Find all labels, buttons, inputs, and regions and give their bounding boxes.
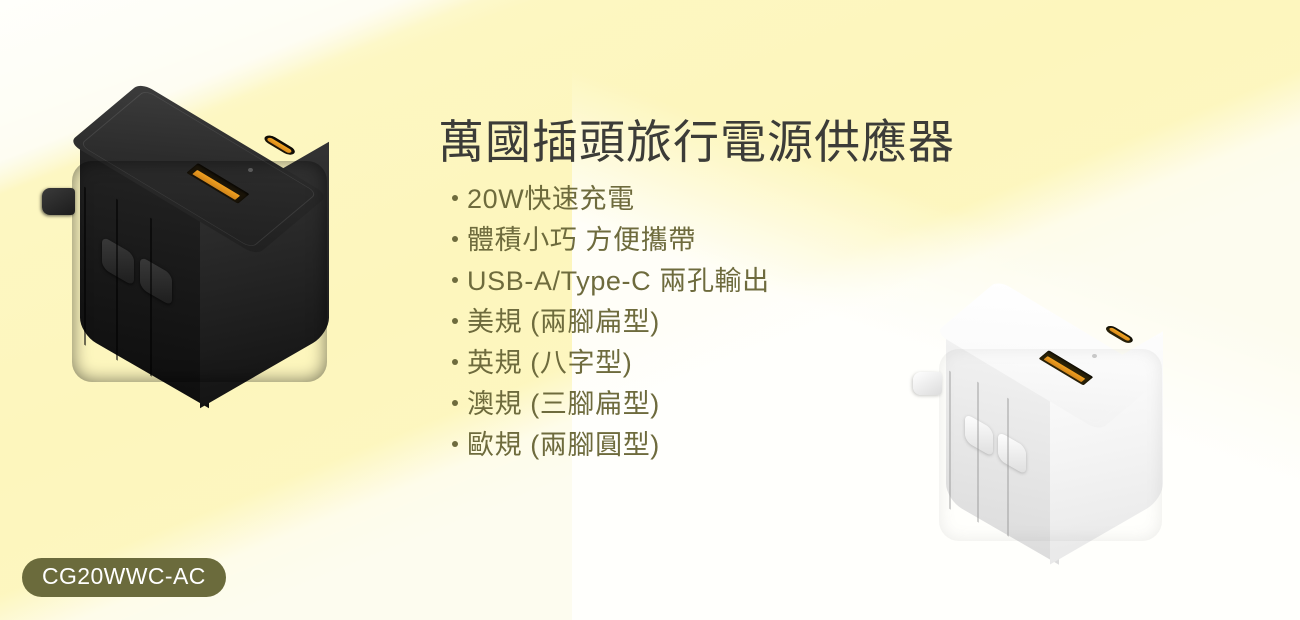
usb-c-port-icon: [261, 133, 297, 156]
feature-item: 體積小巧 方便攜帶: [438, 220, 1038, 261]
bullet-dot-icon: [452, 400, 458, 406]
usb-c-port-icon: [1104, 324, 1135, 344]
plug-pin-nub-left: [42, 188, 75, 215]
bullet-dot-icon: [452, 359, 458, 365]
feature-label: 英規 (八字型): [467, 350, 632, 377]
page-title: 萬國插頭旅行電源供應器: [438, 116, 1038, 169]
feature-item: 美規 (兩腳扁型): [438, 302, 1038, 343]
feature-label: 美規 (兩腳扁型): [467, 309, 660, 336]
feature-label: 歐規 (兩腳圓型): [467, 432, 660, 459]
plug-track-1: [116, 199, 118, 361]
bullet-dot-icon: [452, 441, 458, 447]
bullet-dot-icon: [452, 277, 458, 283]
led-indicator-icon: [248, 168, 253, 173]
adapter-body: [48, 92, 348, 407]
plug-track-3: [84, 186, 86, 344]
feature-label: 澳規 (三腳扁型): [467, 391, 660, 418]
feature-item: 歐規 (兩腳圓型): [438, 425, 1038, 466]
plug-track-2: [150, 218, 152, 376]
bullet-dot-icon: [452, 236, 458, 242]
black-travel-adapter-image: [48, 92, 348, 407]
feature-label: USB-A/Type-C 兩孔輸出: [467, 268, 770, 295]
feature-list: 20W快速充電 體積小巧 方便攜帶 USB-A/Type-C 兩孔輸出 美規 (…: [438, 179, 1038, 466]
product-banner: 萬國插頭旅行電源供應器 20W快速充電 體積小巧 方便攜帶 USB-A/Type…: [0, 0, 1300, 620]
product-copy-block: 萬國插頭旅行電源供應器 20W快速充電 體積小巧 方便攜帶 USB-A/Type…: [438, 116, 1038, 466]
feature-label: 體積小巧 方便攜帶: [467, 227, 696, 254]
feature-item: 20W快速充電: [438, 179, 1038, 220]
feature-item: 澳規 (三腳扁型): [438, 384, 1038, 425]
model-number-badge: CG20WWC-AC: [22, 558, 226, 597]
bullet-dot-icon: [452, 318, 458, 324]
bullet-dot-icon: [452, 195, 458, 201]
feature-label: 20W快速充電: [467, 186, 635, 213]
feature-item: USB-A/Type-C 兩孔輸出: [438, 261, 1038, 302]
led-indicator-icon: [1092, 354, 1097, 358]
feature-item: 英規 (八字型): [438, 343, 1038, 384]
